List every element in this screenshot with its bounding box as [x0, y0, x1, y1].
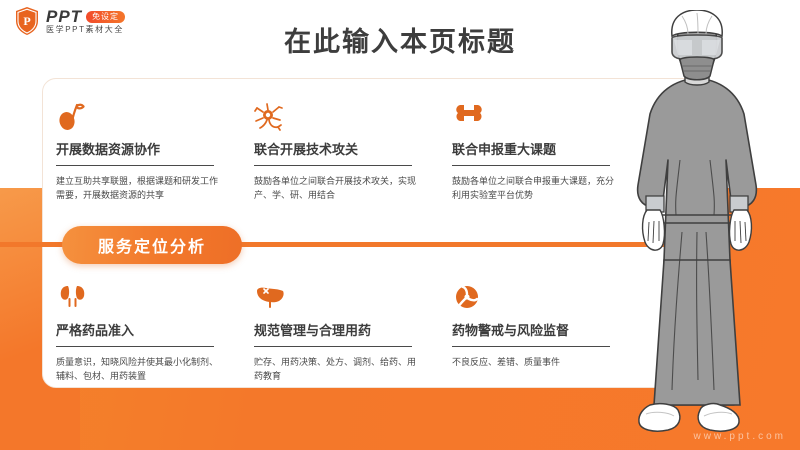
card-rule [254, 165, 412, 166]
card-rule [452, 165, 610, 166]
card-body: 鼓励各单位之间联合申报重大课题，充分利用实验室平台优势 [452, 174, 620, 204]
gallbladder-icon [56, 96, 246, 136]
card-joint-tech-research[interactable]: 联合开展技术攻关 鼓励各单位之间联合开展技术攻关，实现产、学、研、用结合 [254, 96, 444, 203]
card-body: 鼓励各单位之间联合开展技术攻关，实现产、学、研、用结合 [254, 174, 422, 204]
section-badge[interactable]: 服务定位分析 [62, 226, 242, 264]
card-rule [452, 346, 610, 347]
slide-canvas: P PPT 免设定 医学PPT素材大全 在此输入本页标题 开展数据资源协作 [0, 0, 800, 450]
card-body: 贮存、用药决策、处方、调剂、给药、用药教育 [254, 355, 422, 385]
card-body: 不良反应、差错、质量事件 [452, 355, 620, 370]
card-title: 严格药品准入 [56, 323, 246, 339]
watermark: www.ppt.com [694, 431, 786, 442]
section-badge-label: 服务定位分析 [98, 233, 206, 257]
medical-worker-ppe-figure [602, 10, 792, 445]
card-rule [56, 346, 214, 347]
page-title: 在此输入本页标题 [0, 20, 800, 59]
kidney-icon [56, 277, 246, 317]
liver-icon [254, 277, 444, 317]
card-rule [56, 165, 214, 166]
card-title: 规范管理与合理用药 [254, 323, 444, 339]
card-rule [254, 346, 412, 347]
top-cards-row: 开展数据资源协作 建立互助共享联盟，根据课题和研发工作需要，开展数据资源的共享 [56, 96, 656, 203]
card-body: 质量意识，知晓风险并使其最小化制剂、辅料、包材、用药装置 [56, 355, 224, 385]
card-data-resource-collaboration[interactable]: 开展数据资源协作 建立互助共享联盟，根据课题和研发工作需要，开展数据资源的共享 [56, 96, 246, 203]
card-standard-management-rational-drug-use[interactable]: 规范管理与合理用药 贮存、用药决策、处方、调剂、给药、用药教育 [254, 277, 444, 384]
card-title: 联合开展技术攻关 [254, 142, 444, 158]
bottom-cards-row: 严格药品准入 质量意识，知晓风险并使其最小化制剂、辅料、包材、用药装置 规范管理… [56, 277, 656, 384]
card-strict-drug-access[interactable]: 严格药品准入 质量意识，知晓风险并使其最小化制剂、辅料、包材、用药装置 [56, 277, 246, 384]
card-body: 建立互助共享联盟，根据课题和研发工作需要，开展数据资源的共享 [56, 174, 224, 204]
card-title: 开展数据资源协作 [56, 142, 246, 158]
neuron-icon [254, 96, 444, 136]
divider-line-left-stub [0, 242, 46, 247]
